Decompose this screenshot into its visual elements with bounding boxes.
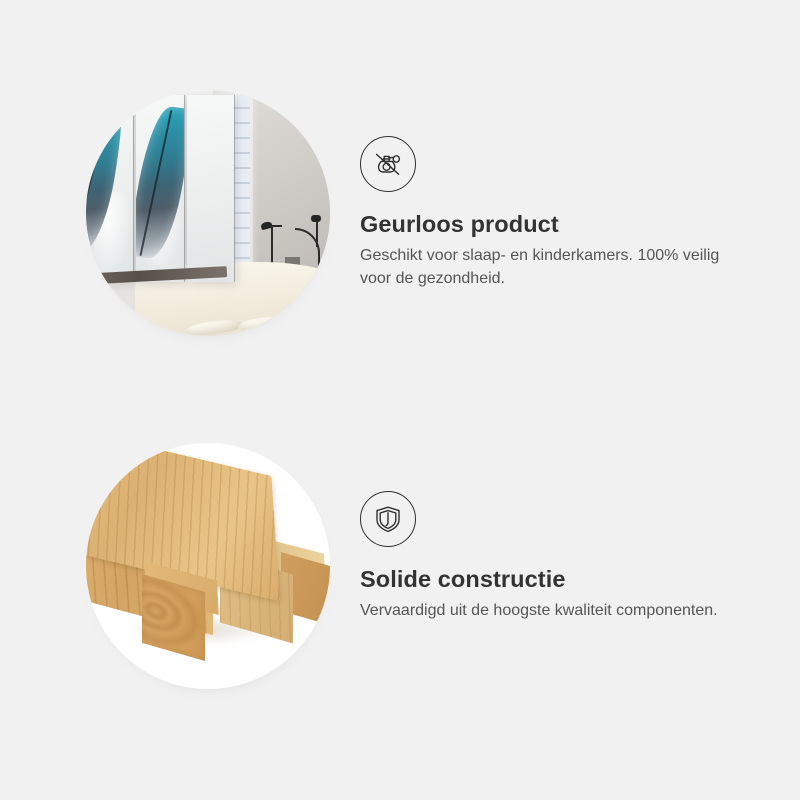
- feature-description-solid-construction: Vervaardigd uit de hoogste kwaliteit com…: [360, 599, 718, 622]
- wall-lamp-head: [311, 215, 321, 222]
- feature-block-solid-construction: Solide constructie Vervaardigd uit de ho…: [0, 423, 800, 723]
- feature-title-odourless: Geurloos product: [360, 210, 559, 238]
- no-perfume-icon: [360, 136, 416, 192]
- feature-block-odourless: Geurloos product Geschikt voor slaap- en…: [0, 70, 800, 370]
- wall-lamp-stem: [316, 218, 318, 248]
- pillow-left: [184, 317, 243, 336]
- circular-photo-frame: [86, 90, 330, 336]
- feature-description-odourless: Geschikt voor slaap- en kinderkamers. 10…: [360, 244, 746, 290]
- art-panel-1: [86, 95, 133, 282]
- bedroom-scene: [86, 90, 330, 336]
- pillow-right: [238, 315, 301, 334]
- art-panel-2: [136, 95, 184, 282]
- product-feature-page: Geurloos product Geschikt voor slaap- en…: [0, 0, 800, 800]
- art-panel-3: [187, 95, 234, 282]
- feature-image-odourless: [86, 90, 332, 338]
- desk-lamp-arm-horizontal: [267, 225, 282, 227]
- wooden-beams-scene: [86, 443, 330, 689]
- feature-title-solid-construction: Solide constructie: [360, 565, 566, 593]
- circular-photo-frame: [86, 443, 330, 689]
- feather-triptych: [86, 95, 237, 282]
- feature-image-solid-construction: [86, 443, 332, 691]
- shield-icon: [360, 491, 416, 547]
